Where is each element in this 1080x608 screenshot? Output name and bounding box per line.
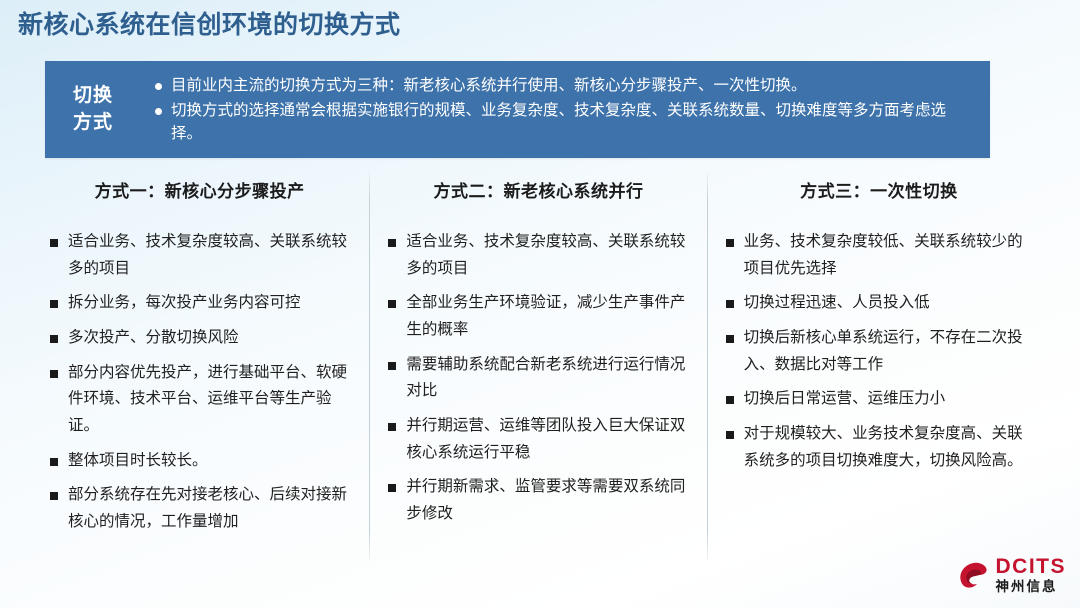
- square-bullet-icon: [50, 300, 58, 308]
- list-item: 全部业务生产环境验证，减少生产事件产生的概率: [388, 290, 694, 343]
- list-item-text: 并行期运营、运维等团队投入巨大保证双核心系统运行平稳: [406, 413, 694, 466]
- list-item-text: 切换后新核心单系统运行，不存在二次投入、数据比对等工作: [744, 325, 1038, 378]
- list-item: 并行期新需求、监管要求等需要双系统同步修改: [388, 474, 694, 527]
- square-bullet-icon: [388, 362, 396, 370]
- methods-columns: 方式一：新核心分步骤投产 适合业务、技术复杂度较高、关联系统较多的项目 拆分业务…: [30, 172, 1050, 560]
- page-title: 新核心系统在信创环境的切换方式: [18, 10, 401, 40]
- list-item-text: 切换过程迅速、人员投入低: [744, 290, 1038, 317]
- column-heading: 方式三：一次性切换: [720, 181, 1038, 203]
- list-item-text: 适合业务、技术复杂度较高、关联系统较多的项目: [68, 229, 357, 282]
- method-column-two: 方式二：新老核心系统并行 适合业务、技术复杂度较高、关联系统较多的项目 全部业务…: [370, 172, 706, 560]
- square-bullet-icon: [388, 239, 396, 247]
- method-column-one: 方式一：新核心分步骤投产 适合业务、技术复杂度较高、关联系统较多的项目 拆分业务…: [30, 172, 369, 560]
- square-bullet-icon: [726, 335, 734, 343]
- square-bullet-icon: [726, 431, 734, 439]
- list-item-text: 需要辅助系统配合新老系统进行运行情况对比: [406, 352, 694, 405]
- list-item-text: 业务、技术复杂度较低、关联系统较少的项目优先选择: [744, 229, 1038, 282]
- list-item-text: 并行期新需求、监管要求等需要双系统同步修改: [406, 474, 694, 527]
- banner-bullet-item: 切换方式的选择通常会根据实施银行的规模、业务复杂度、技术复杂度、关联系统数量、切…: [155, 99, 974, 146]
- list-item: 需要辅助系统配合新老系统进行运行情况对比: [388, 352, 694, 405]
- banner-bullet-text: 目前业内主流的切换方式为三种：新老核心系统并行使用、新核心分步骤投产、一次性切换…: [171, 74, 974, 98]
- list-item-text: 拆分业务，每次投产业务内容可控: [68, 290, 357, 317]
- square-bullet-icon: [388, 423, 396, 431]
- square-bullet-icon: [726, 396, 734, 404]
- column-heading: 方式二：新老核心系统并行: [382, 181, 694, 203]
- square-bullet-icon: [388, 484, 396, 492]
- square-bullet-icon: [50, 239, 58, 247]
- bullet-dot-icon: [155, 83, 162, 90]
- square-bullet-icon: [50, 492, 58, 500]
- logo-chinese-name: 神州信息: [996, 580, 1067, 594]
- square-bullet-icon: [726, 300, 734, 308]
- logo-english-name: DCITS: [996, 556, 1067, 577]
- square-bullet-icon: [50, 370, 58, 378]
- bullet-list: 业务、技术复杂度较低、关联系统较少的项目优先选择 切换过程迅速、人员投入低 切换…: [726, 229, 1038, 474]
- list-item-text: 部分内容优先投产，进行基础平台、软硬件环境、技术平台、运维平台等生产验证。: [68, 360, 357, 440]
- square-bullet-icon: [50, 335, 58, 343]
- list-item: 切换后新核心单系统运行，不存在二次投入、数据比对等工作: [726, 325, 1038, 378]
- list-item: 并行期运营、运维等团队投入巨大保证双核心系统运行平稳: [388, 413, 694, 466]
- list-item: 业务、技术复杂度较低、关联系统较少的项目优先选择: [726, 229, 1038, 282]
- banner-bullet-item: 目前业内主流的切换方式为三种：新老核心系统并行使用、新核心分步骤投产、一次性切换…: [155, 74, 974, 98]
- square-bullet-icon: [50, 458, 58, 466]
- list-item: 部分系统存在先对接老核心、后续对接新核心的情况，工作量增加: [50, 482, 357, 535]
- list-item: 拆分业务，每次投产业务内容可控: [50, 290, 357, 317]
- banner-body: 目前业内主流的切换方式为三种：新老核心系统并行使用、新核心分步骤投产、一次性切换…: [141, 61, 990, 158]
- banner-label-line2: 方式: [73, 110, 113, 136]
- dcits-swirl-icon: [956, 557, 992, 593]
- list-item: 适合业务、技术复杂度较高、关联系统较多的项目: [388, 229, 694, 282]
- list-item: 多次投产、分散切换风险: [50, 325, 357, 352]
- list-item: 切换过程迅速、人员投入低: [726, 290, 1038, 317]
- list-item-text: 切换后日常运营、运维压力小: [744, 386, 1038, 413]
- square-bullet-icon: [388, 300, 396, 308]
- list-item-text: 整体项目时长较长。: [68, 448, 357, 475]
- list-item: 整体项目时长较长。: [50, 448, 357, 475]
- logo-text-block: DCITS 神州信息: [996, 556, 1067, 594]
- company-logo: DCITS 神州信息: [956, 554, 1067, 596]
- banner-label-line1: 切换: [73, 83, 113, 109]
- banner-label: 切换 方式: [45, 61, 141, 158]
- list-item: 适合业务、技术复杂度较高、关联系统较多的项目: [50, 229, 357, 282]
- list-item-text: 对于规模较大、业务技术复杂度高、关联系统多的项目切换难度大，切换风险高。: [744, 421, 1038, 474]
- method-column-three: 方式三：一次性切换 业务、技术复杂度较低、关联系统较少的项目优先选择 切换过程迅…: [708, 172, 1050, 560]
- column-heading: 方式一：新核心分步骤投产: [42, 181, 357, 203]
- square-bullet-icon: [726, 239, 734, 247]
- list-item: 切换后日常运营、运维压力小: [726, 386, 1038, 413]
- bullet-list: 适合业务、技术复杂度较高、关联系统较多的项目 拆分业务，每次投产业务内容可控 多…: [50, 229, 357, 536]
- bullet-list: 适合业务、技术复杂度较高、关联系统较多的项目 全部业务生产环境验证，减少生产事件…: [388, 229, 694, 528]
- list-item-text: 全部业务生产环境验证，减少生产事件产生的概率: [406, 290, 694, 343]
- list-item-text: 多次投产、分散切换风险: [68, 325, 357, 352]
- banner-bullet-text: 切换方式的选择通常会根据实施银行的规模、业务复杂度、技术复杂度、关联系统数量、切…: [171, 99, 974, 146]
- bullet-dot-icon: [155, 108, 162, 115]
- list-item-text: 部分系统存在先对接老核心、后续对接新核心的情况，工作量增加: [68, 482, 357, 535]
- list-item: 部分内容优先投产，进行基础平台、软硬件环境、技术平台、运维平台等生产验证。: [50, 360, 357, 440]
- list-item: 对于规模较大、业务技术复杂度高、关联系统多的项目切换难度大，切换风险高。: [726, 421, 1038, 474]
- switch-method-banner: 切换 方式 目前业内主流的切换方式为三种：新老核心系统并行使用、新核心分步骤投产…: [45, 61, 990, 158]
- list-item-text: 适合业务、技术复杂度较高、关联系统较多的项目: [406, 229, 694, 282]
